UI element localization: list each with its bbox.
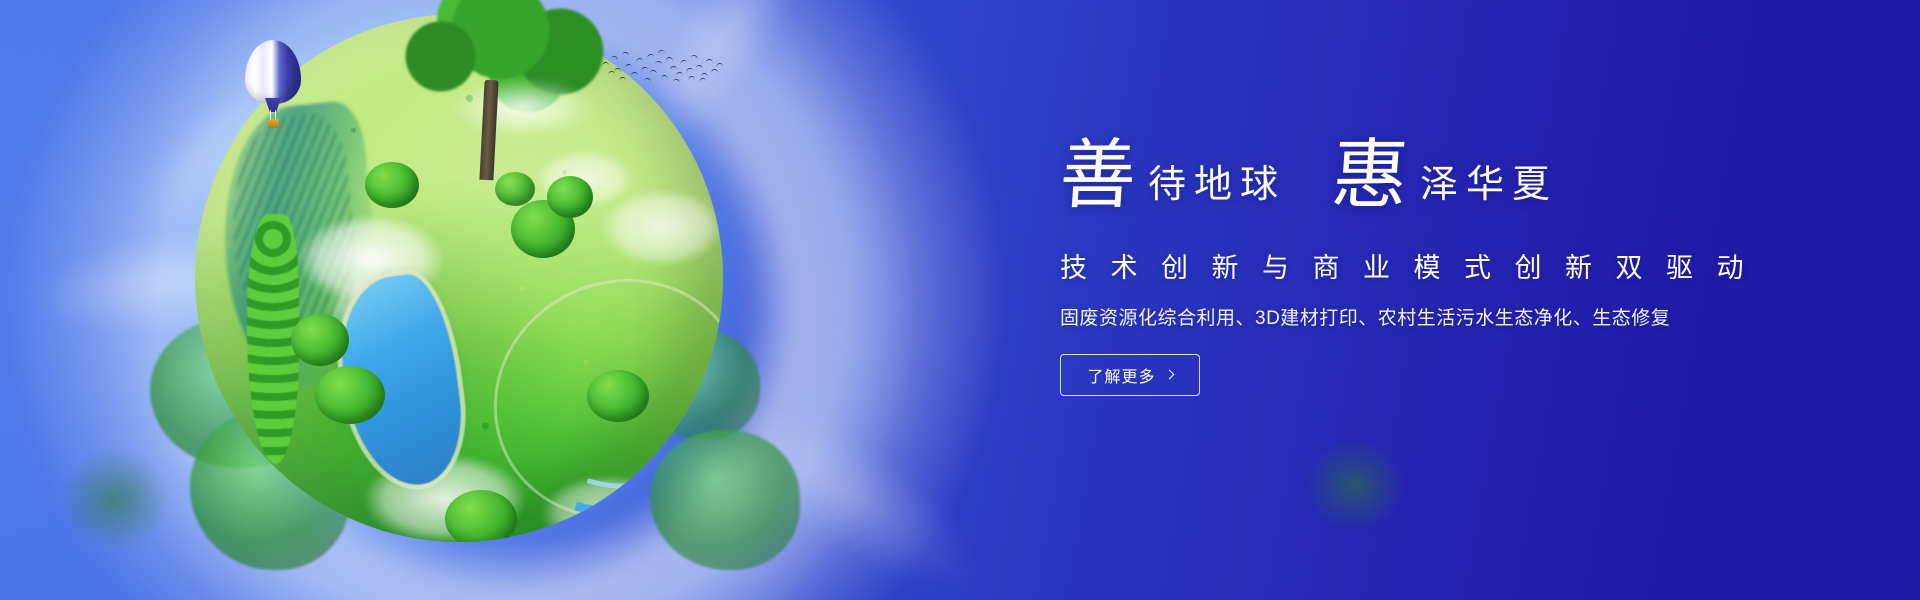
hero-subtitle: 技 术 创 新 与 商 业 模 式 创 新 双 驱 动 xyxy=(1060,246,1780,285)
headline-accent-char-2: 惠 xyxy=(1330,140,1411,210)
balloon-envelope xyxy=(245,40,301,104)
bird-icon xyxy=(691,54,699,60)
bare-tree xyxy=(40,430,190,570)
bush xyxy=(445,490,517,542)
bush xyxy=(315,366,385,424)
bird-icon xyxy=(696,64,704,69)
bird-icon xyxy=(614,68,621,72)
tree-mist xyxy=(428,70,618,146)
bird-icon xyxy=(680,59,688,65)
hot-air-balloon-icon xyxy=(245,40,301,130)
bird-icon xyxy=(670,65,678,70)
bird-icon xyxy=(655,61,662,66)
bird-icon xyxy=(636,58,643,63)
bird-icon xyxy=(701,73,708,78)
bird-icon xyxy=(602,62,609,67)
bird-icon xyxy=(641,66,649,71)
headline-group-1: 善 待地球 xyxy=(1060,140,1286,210)
bird-icon xyxy=(661,75,668,80)
bird-icon xyxy=(644,78,651,83)
headline-group-2: 惠 泽华夏 xyxy=(1332,140,1558,210)
bird-icon xyxy=(686,67,694,73)
headline-rest-1: 待地球 xyxy=(1148,165,1286,203)
side-tree xyxy=(190,410,350,570)
globe-cloud xyxy=(587,180,723,275)
globe-cloud xyxy=(345,444,545,542)
learn-more-button[interactable]: 了解更多 xyxy=(1060,354,1200,396)
bird-icon xyxy=(658,49,666,55)
side-tree xyxy=(640,330,760,440)
big-tree xyxy=(390,0,620,184)
lake xyxy=(333,270,470,492)
bird-icon xyxy=(608,71,615,75)
hero-content: 善 待地球 惠 泽华夏 技 术 创 新 与 商 业 模 式 创 新 双 驱 动 … xyxy=(1060,140,1780,396)
side-tree xyxy=(650,430,800,570)
bird-icon xyxy=(711,69,718,73)
bird-icon xyxy=(706,59,713,63)
balloon-basket xyxy=(268,119,279,128)
bird-icon xyxy=(625,64,632,69)
chevron-right-icon xyxy=(1164,370,1174,380)
bird-icon xyxy=(676,72,683,77)
bird-icon xyxy=(650,69,658,74)
bird-icon xyxy=(619,77,626,82)
bird-icon xyxy=(673,78,681,83)
globe-cloud xyxy=(281,204,461,314)
bird-flock-icon xyxy=(600,48,720,94)
bird-icon xyxy=(631,72,638,76)
bird-icon xyxy=(647,53,655,58)
bird-icon xyxy=(611,55,619,61)
hero-description: 固废资源化综合利用、3D建材打印、农村生活污水生态净化、生态修复 xyxy=(1060,303,1780,330)
bird-icon xyxy=(699,78,706,83)
bird-icon xyxy=(666,57,673,61)
headline-accent-char-1: 善 xyxy=(1058,140,1139,210)
headline-rest-2: 泽华夏 xyxy=(1420,165,1558,203)
bush xyxy=(511,200,575,258)
bird-icon xyxy=(622,51,630,57)
learn-more-label: 了解更多 xyxy=(1087,363,1155,387)
hero-banner: 善 待地球 惠 泽华夏 技 术 创 新 与 商 业 模 式 创 新 双 驱 动 … xyxy=(0,0,1920,600)
page-title: 善 待地球 惠 泽华夏 xyxy=(1060,140,1780,210)
globe-cloud xyxy=(315,264,455,354)
bird-icon xyxy=(716,63,723,68)
bird-icon xyxy=(688,76,695,80)
bare-tree xyxy=(1285,420,1425,550)
